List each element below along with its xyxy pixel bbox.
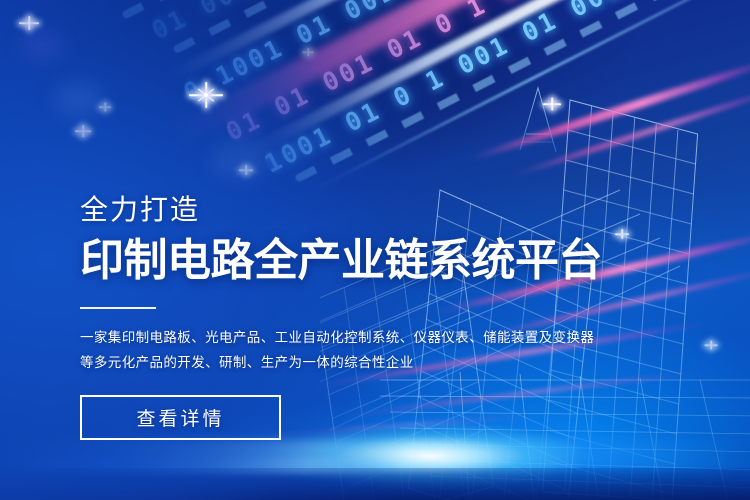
description-line-2: 等多元化产品的开发、研制、生产为一体的综合性企业: [80, 350, 600, 375]
star-icon: [96, 98, 114, 116]
star-icon: [16, 10, 42, 36]
title-divider: [80, 307, 156, 309]
eyebrow-text: 全力打造: [80, 196, 600, 224]
view-details-button[interactable]: 查看详情: [80, 395, 281, 440]
page-title: 印制电路全产业链系统平台: [80, 239, 600, 283]
hero-banner: 01 001 01 001 0 1 001 01 0 1001 01 0 100…: [0, 0, 750, 500]
description-line-1: 一家集印制电路板、光电产品、工业自动化控制系统、仪器仪表、储能装置及变换器: [80, 325, 600, 350]
star-icon: [72, 120, 94, 142]
hero-copy: 全力打造 印制电路全产业链系统平台 一家集印制电路板、光电产品、工业自动化控制系…: [80, 196, 600, 440]
description-text: 一家集印制电路板、光电产品、工业自动化控制系统、仪器仪表、储能装置及变换器 等多…: [80, 325, 600, 375]
